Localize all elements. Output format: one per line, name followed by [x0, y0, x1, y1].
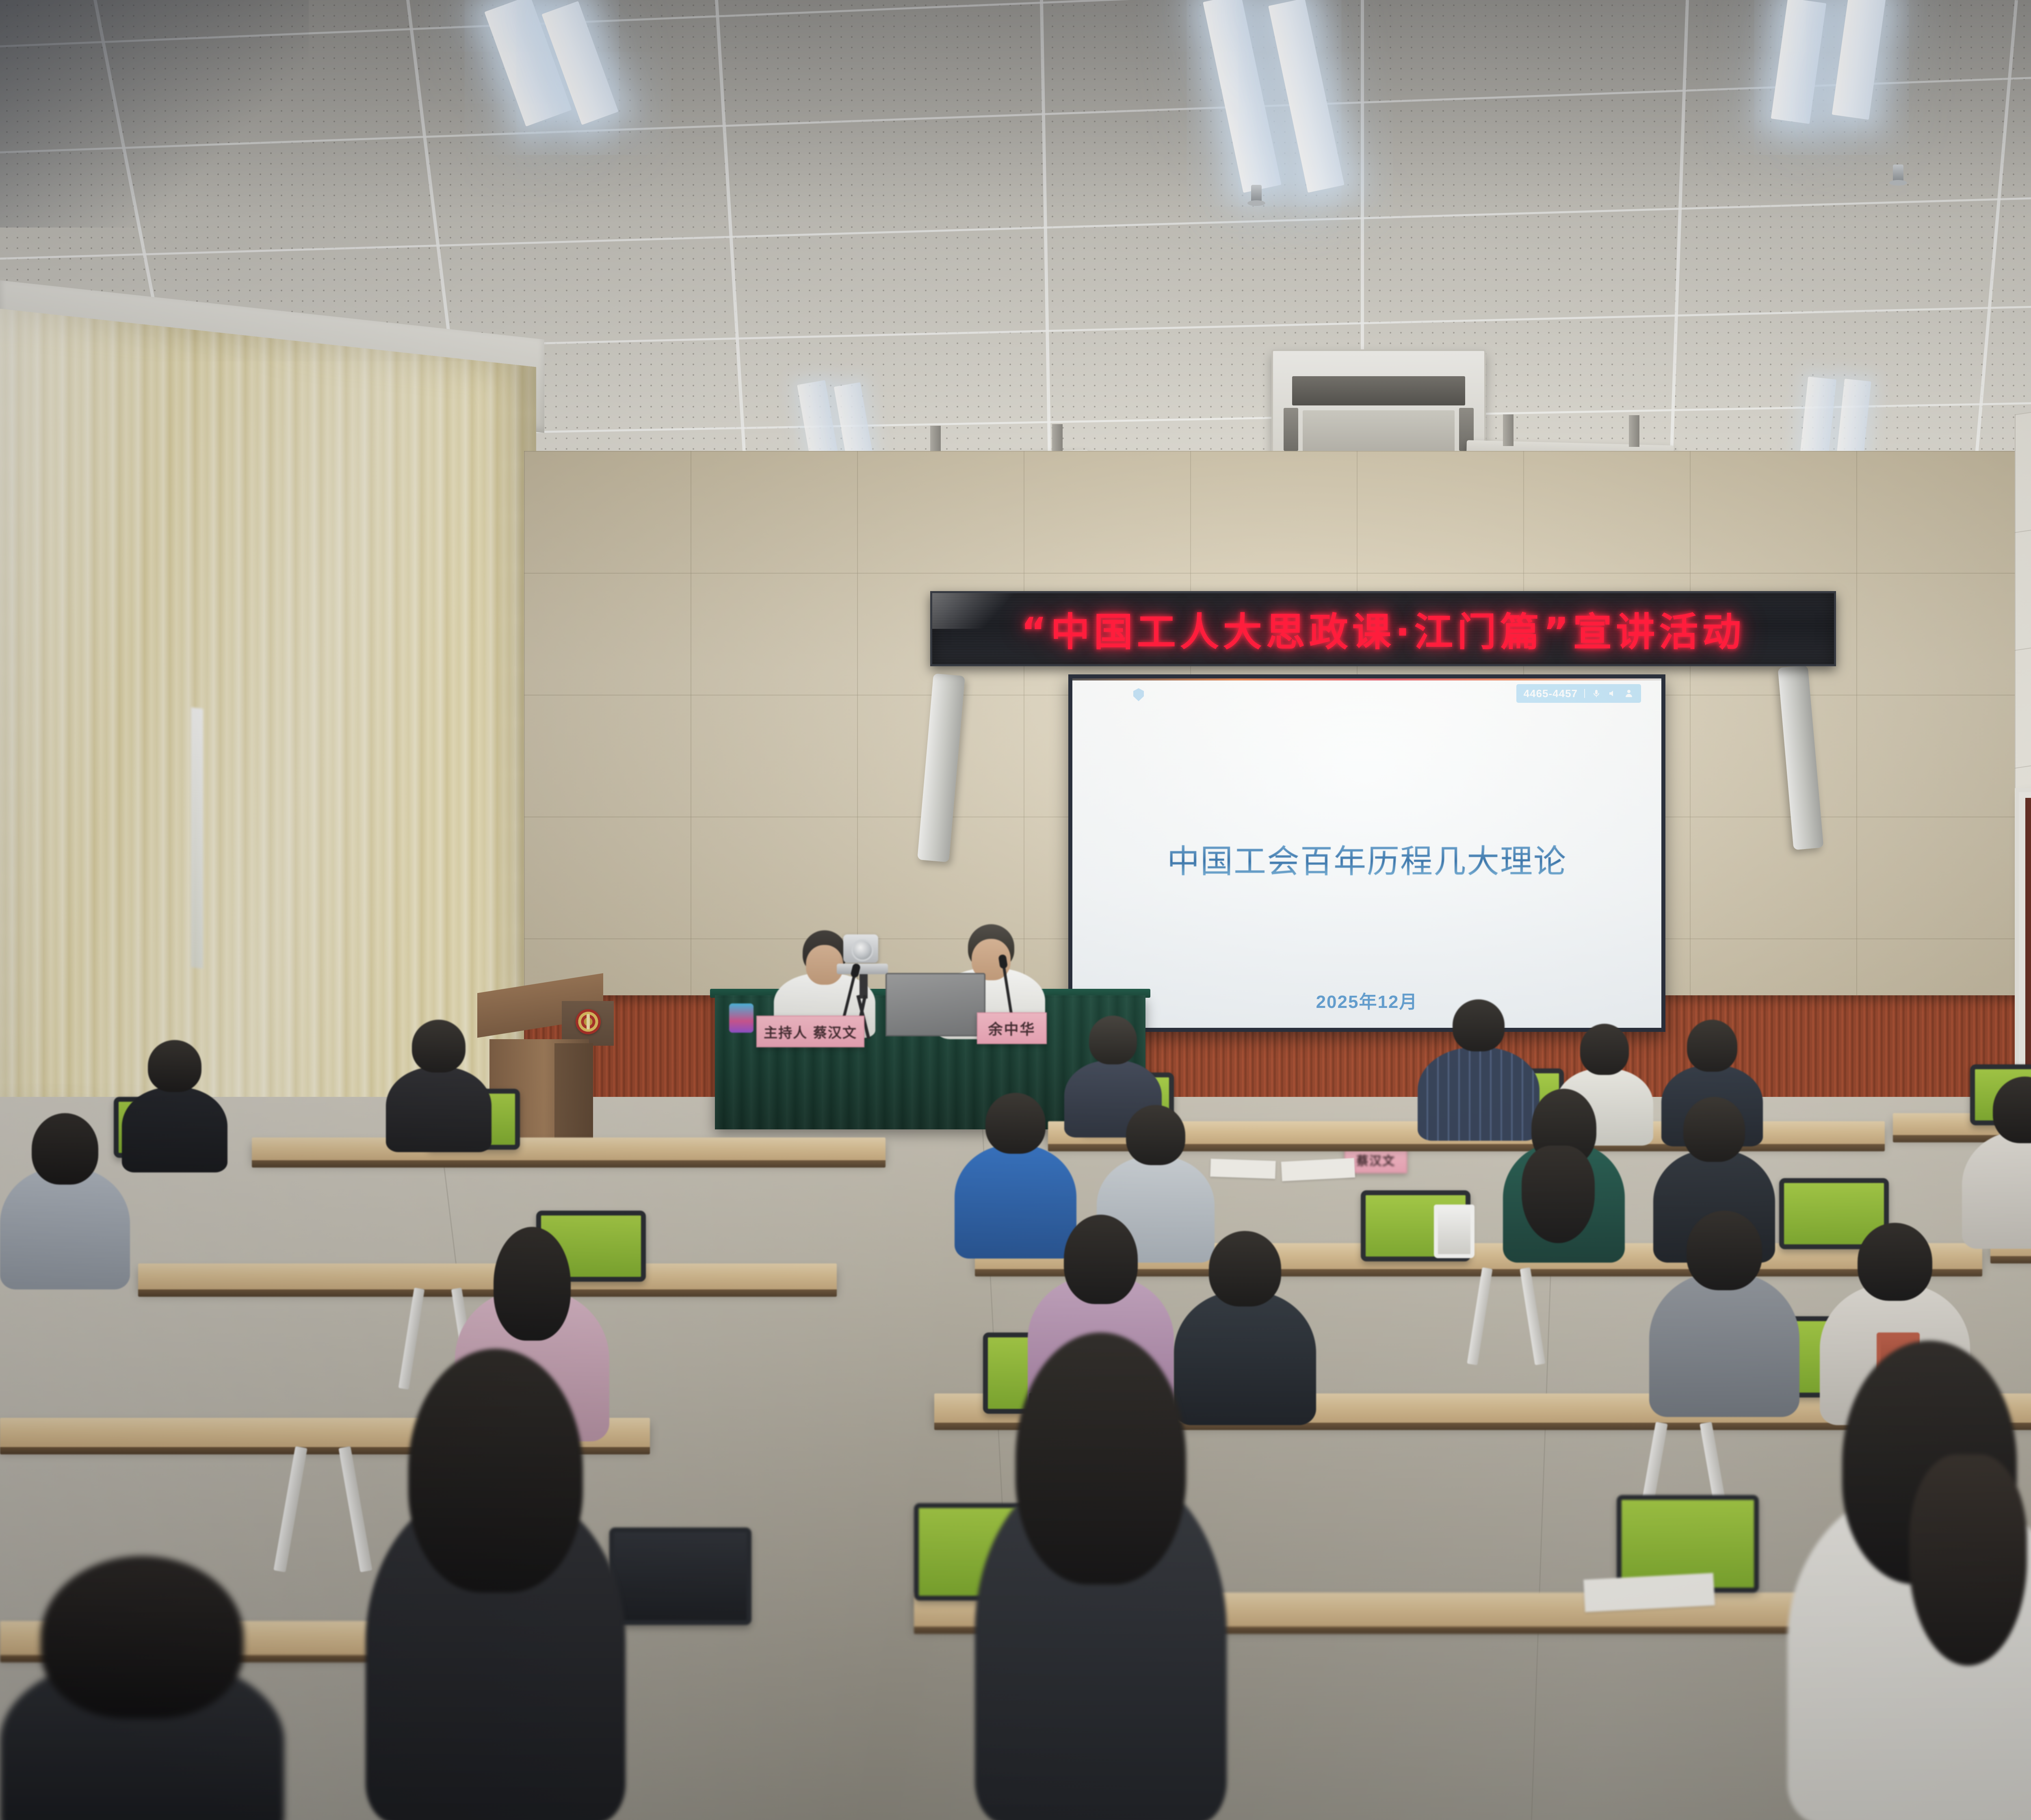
attendee-body	[1649, 1272, 1799, 1417]
camera-base	[837, 964, 888, 974]
desk-edge	[1990, 1256, 2031, 1263]
attendee-foreground	[0, 1556, 284, 1820]
ac-face-panel	[1303, 410, 1455, 453]
paper-sheet	[1583, 1573, 1715, 1612]
attendee	[386, 1020, 492, 1150]
attendee	[0, 1113, 130, 1288]
badge-separator	[1584, 689, 1585, 698]
attendee	[1962, 1077, 2031, 1247]
attendee-foreground	[366, 1349, 626, 1820]
attendee-body	[0, 1168, 130, 1289]
curtain-gap-light	[191, 707, 203, 968]
attendee-hair	[1089, 1016, 1137, 1064]
desk-row-a	[252, 1137, 886, 1161]
attendee-hair	[1209, 1231, 1281, 1306]
microphone-icon[interactable]	[1591, 689, 1601, 698]
shield-icon	[1133, 688, 1144, 701]
nameplate-host: 主持人 蔡汉文	[756, 1016, 864, 1047]
attendee-hair	[408, 1349, 583, 1592]
projector-mount-leg	[1052, 424, 1063, 455]
water-bottle	[729, 1003, 754, 1033]
attendee	[1649, 1211, 1799, 1414]
attendee-hair	[1858, 1223, 1932, 1301]
attendee-hair	[1580, 1024, 1629, 1075]
attendee-hair	[1687, 1211, 1762, 1290]
laptop-screen	[886, 973, 985, 1036]
desk-surface	[252, 1137, 886, 1161]
slide-date: 2025年12月	[1072, 987, 1661, 1013]
sprinkler-head	[1893, 165, 1903, 182]
chair[interactable]	[609, 1527, 751, 1625]
attendee-body	[1962, 1131, 2031, 1249]
meeting-code-text: 4465-4457	[1524, 687, 1578, 700]
meeting-code-badge[interactable]: 4465-4457	[1516, 684, 1641, 703]
attendee-hair	[1687, 1020, 1737, 1072]
attendee-hair	[985, 1093, 1046, 1154]
attendee-hair	[41, 1556, 244, 1718]
attendee-hair	[1015, 1332, 1186, 1584]
sprinkler-head	[1251, 185, 1262, 202]
ac-vent	[1292, 376, 1465, 406]
attendee	[1503, 1089, 1625, 1259]
attendee-foreground	[975, 1332, 1227, 1820]
attendee-foreground	[1787, 1341, 2031, 1820]
ac-side-louver	[1284, 408, 1298, 451]
paper-sheet	[1281, 1158, 1355, 1181]
union-emblem-icon	[576, 1009, 601, 1034]
attendee-hair	[1064, 1215, 1138, 1304]
led-banner-text: “中国工人大思政课·江门篇”宣讲活动	[1021, 600, 1745, 657]
slide-top-accent-bar	[1072, 678, 1661, 680]
attendee-hair	[1993, 1077, 2031, 1143]
podium-column	[554, 1043, 593, 1143]
projector-mount-leg	[1629, 415, 1639, 447]
laptop[interactable]	[886, 973, 983, 1034]
led-banner: “中国工人大思政课·江门篇”宣讲活动	[930, 591, 1836, 666]
camera-lens-icon	[851, 939, 873, 961]
attendee-hair	[1126, 1105, 1185, 1165]
projection-screen: 4465-4457 中国工会百年历程几大理论 2025年12月	[1072, 678, 1661, 1028]
attendee-hair	[148, 1040, 201, 1092]
white-mug	[1434, 1205, 1475, 1258]
attendee-hair	[494, 1227, 571, 1341]
projector-mount-leg	[1503, 414, 1514, 446]
ac-cassette-unit	[1271, 349, 1486, 466]
person-icon[interactable]	[1624, 689, 1634, 698]
attendee-hair	[1453, 999, 1505, 1051]
speaker-icon[interactable]	[1608, 689, 1617, 698]
attendee-hair	[412, 1020, 466, 1072]
attendee-ponytail	[1909, 1454, 2027, 1666]
attendee-body	[386, 1067, 492, 1152]
slide-title: 中国工会百年历程几大理论	[1072, 835, 1661, 882]
desk-edge	[252, 1160, 886, 1168]
attendee	[122, 1040, 227, 1170]
attendee-hair	[1522, 1146, 1595, 1243]
projection-screen-frame: 4465-4457 中国工会百年历程几大理论 2025年12月	[1068, 674, 1665, 1032]
lecture-hall-photo: “中国工人大思政课·江门篇”宣讲活动 4465-4457 中国工会百年历程几大理…	[0, 0, 2031, 1820]
attendee-hair	[32, 1113, 98, 1185]
chair-back	[609, 1527, 751, 1625]
nameplate-speaker: 余中华	[977, 1012, 1047, 1044]
attendee-body	[122, 1087, 227, 1172]
attendee-hair	[1683, 1097, 1745, 1162]
paper-sheet	[1210, 1159, 1275, 1179]
